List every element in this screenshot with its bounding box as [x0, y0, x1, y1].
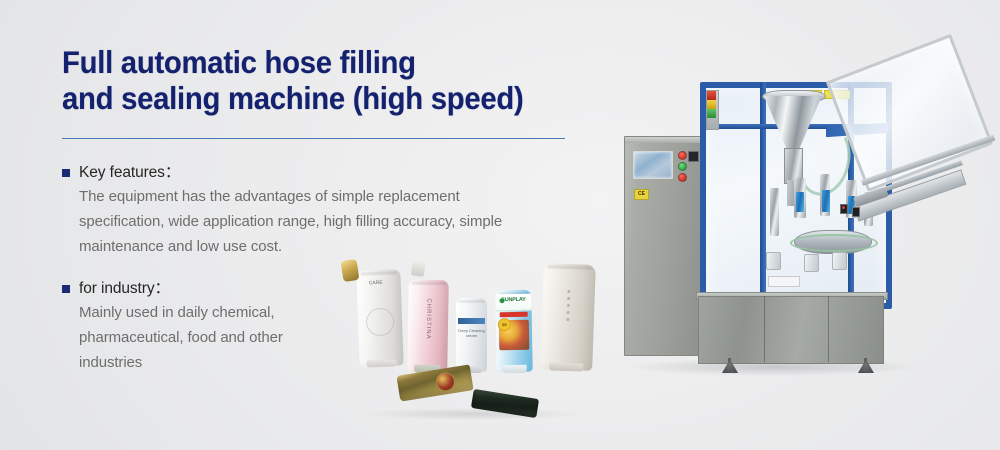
tube-label-text: CHRISTINA [425, 298, 432, 339]
body-line: specification, wide application range, h… [79, 209, 578, 234]
hmi-touchscreen [633, 151, 673, 179]
tube-pink: CHRISTINA [407, 280, 449, 373]
section-key-features: Key features： The equipment has the adva… [62, 162, 578, 259]
tube-label-text: Deep Cleaning cream [456, 328, 487, 338]
blue-actuator [822, 190, 830, 212]
control-cabinet: CE [624, 136, 702, 356]
body-line: Mainly used in daily chemical, [79, 300, 362, 325]
tube-label-text: SUNPLAY [495, 297, 531, 304]
section-body: Mainly used in daily chemical, pharmaceu… [79, 300, 362, 375]
title-divider [62, 138, 565, 139]
section-heading: for industry： [79, 278, 170, 299]
base-panel-seam [828, 296, 829, 362]
bullet-square-icon [62, 285, 70, 293]
base-panel-seam [764, 296, 765, 362]
tube-beige [540, 263, 596, 371]
door-switch [852, 207, 860, 217]
tube-holder [804, 254, 819, 272]
body-line: maintenance and low use cost. [79, 234, 578, 259]
text-column: Full automatic hose filling and sealing … [62, 44, 582, 116]
tube-holder [766, 252, 781, 270]
turret-guard-ring [790, 234, 878, 252]
tube-artwork [566, 290, 570, 321]
pneumatic-cylinder [770, 188, 779, 236]
section-heading-row: for industry： [62, 278, 362, 299]
section-heading-row: Key features： [62, 162, 578, 183]
tube-crimp [458, 300, 484, 303]
tube-artwork [366, 308, 395, 337]
base-cabinet [698, 296, 884, 364]
tube-crimp [412, 282, 446, 286]
tube-red-band [500, 312, 528, 317]
tube-crimp [360, 271, 397, 275]
ce-label: CE [634, 189, 649, 200]
tube-cap [503, 365, 527, 373]
tube-cap [340, 259, 359, 282]
tube-sunplay: SUNPLAY 50 [495, 290, 532, 373]
tube-crimp [548, 265, 592, 270]
tower-light-yellow [707, 100, 716, 109]
tube-cap [411, 258, 426, 277]
tube-artwork [435, 371, 457, 393]
section-for-industry: for industry： Mainly used in daily chemi… [62, 278, 362, 375]
product-tubes-group: CARE CHRISTINA Deep Cleaning cream SUNPL… [352, 258, 602, 423]
tube-cap [549, 362, 583, 371]
tower-light-green [707, 109, 716, 118]
tubes-shadow [366, 408, 581, 420]
body-line: industries [79, 350, 362, 375]
tube-holder [832, 252, 847, 270]
tube-label-text: CARE [369, 280, 383, 286]
start-button [678, 162, 687, 171]
tube-cap [366, 359, 396, 367]
tube-white: CARE [356, 269, 403, 366]
tube-white-blue: Deep Cleaning cream [456, 298, 487, 372]
machine-photo: CE [610, 28, 1000, 408]
section-heading: Key features： [79, 162, 180, 183]
emergency-stop-button [678, 151, 687, 160]
tube-brand-band [458, 318, 485, 324]
section-body: The equipment has the advantages of simp… [79, 184, 578, 259]
blue-actuator [796, 192, 804, 212]
page-title: Full automatic hose filling and sealing … [62, 44, 546, 116]
info-plate [768, 276, 800, 287]
body-line: The equipment has the advantages of simp… [79, 184, 578, 209]
bullet-square-icon [62, 169, 70, 177]
product-banner: Full automatic hose filling and sealing … [0, 0, 1000, 450]
cabinet-top-edge [625, 137, 701, 143]
power-switch [688, 151, 699, 162]
body-line: pharmaceutical, food and other [79, 325, 362, 350]
stop-button [678, 173, 687, 182]
door-indicator-led [842, 206, 845, 209]
tower-light-red [707, 91, 716, 100]
